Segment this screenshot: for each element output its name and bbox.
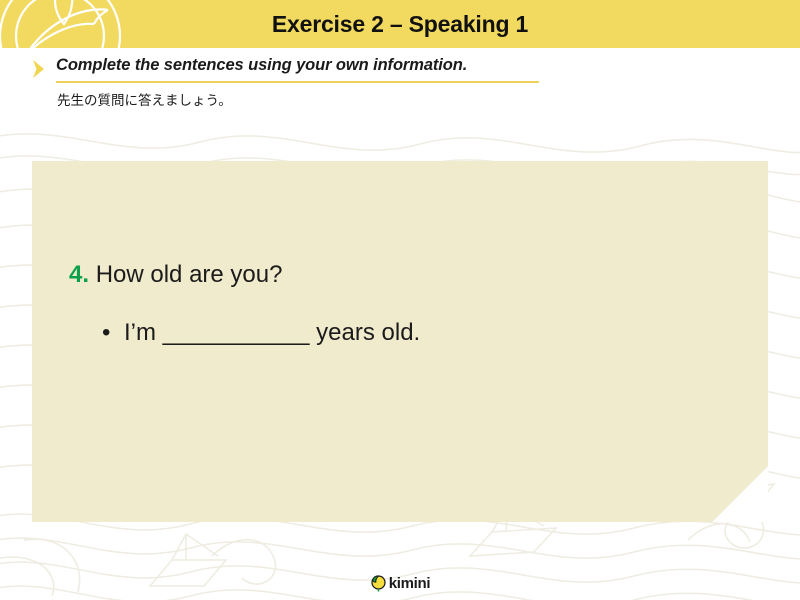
instruction-row: Complete the sentences using your own in… xyxy=(0,56,800,82)
kimini-logo-mark-icon xyxy=(370,575,387,592)
bullet-icon: • xyxy=(102,319,124,347)
answer-line: •I’m ___________ years old. xyxy=(102,319,420,347)
footer-logo: kimini xyxy=(0,575,800,597)
instruction-underline xyxy=(56,81,539,83)
kimini-brand: kimini xyxy=(370,575,431,592)
chevron-right-icon xyxy=(31,59,47,79)
question-line: 4. How old are you? xyxy=(69,261,282,289)
content-panel: 4. How old are you? •I’m ___________ yea… xyxy=(32,161,768,522)
instruction-block: Complete the sentences using your own in… xyxy=(0,56,800,82)
header-band: Exercise 2 – Speaking 1 xyxy=(0,0,800,48)
instruction-text-english: Complete the sentences using your own in… xyxy=(56,56,467,75)
question-text: How old are you? xyxy=(96,261,283,288)
instruction-text-japanese: 先生の質問に答えましょう。 xyxy=(57,89,232,109)
question-number: 4. xyxy=(69,261,89,288)
kimini-logo-text: kimini xyxy=(389,575,431,592)
answer-text: I’m ___________ years old. xyxy=(124,319,420,346)
page-title: Exercise 2 – Speaking 1 xyxy=(0,0,800,48)
page-fold-mask xyxy=(712,466,768,522)
